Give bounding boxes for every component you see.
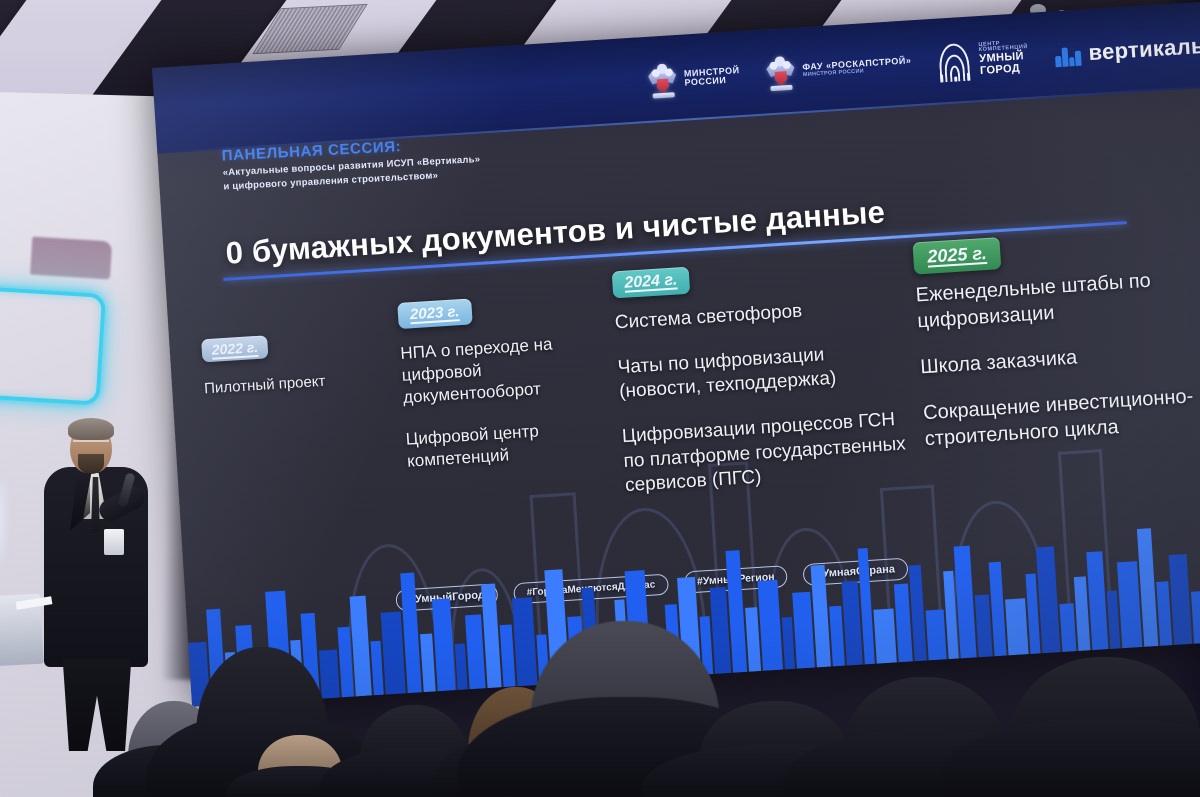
minstroy-rossii-logo: МИНСТРОЙ РОССИИ [646,57,741,99]
double-headed-eagle-emblem-icon [765,54,797,92]
conference-scene: МИНСТРОЙ РОССИИ ФАУ «РОСКАПСТРОЙ» МИНСТР… [0,0,1200,797]
timeline-item: Цифровой центр компетенций [405,416,609,473]
timeline-item: Школа заказчика [919,337,1200,381]
minstroy-line2: РОССИИ [684,75,740,88]
year-badge-2025: 2025 г. [912,237,1001,274]
timeline-column-2025: 2025 г. Еженедельные штабы по цифровизац… [896,225,1200,473]
audience-heads-foreground [0,567,1200,797]
year-badge-2023: 2023 г. [397,298,472,329]
fingerprint-arch-icon [936,41,972,83]
neon-rectangle-icon [0,284,106,406]
fau-roskapstroy-logo: ФАУ «РОСКАПСТРОЙ» МИНСТРОЯ РОССИИ [765,46,913,91]
year-badge-2022: 2022 г. [201,335,269,362]
vertical-brand-name: вертикаль [1088,33,1200,66]
smart-city-big-2: ГОРОД [980,63,1030,78]
timeline-item: НПА о переходе на цифровой документообор… [400,330,606,409]
audience-head [1010,657,1200,797]
glasses-icon [73,440,109,447]
timeline-item: Сокращение инвестиционно-строительного ц… [922,382,1200,452]
timeline-column-2024: 2024 г. Система светофоров Чаты по цифро… [597,244,913,520]
year-badge-2024: 2024 г. [612,267,690,299]
timeline-item: Чаты по цифровизации (новости, техподдер… [617,338,906,405]
double-headed-eagle-emblem-icon [646,61,678,99]
timeline-column-2022: 2022 г. Пилотный проект [188,276,396,420]
bar-chart-mark-icon [1054,42,1081,68]
smart-city-logo: ЦЕНТР КОМПЕТЕНЦИЙ УМНЫЙ ГОРОД [936,37,1030,83]
timeline-column-2023: 2023 г. НПА о переходе на цифровой докум… [388,262,611,493]
lanyard-badge [104,529,124,555]
vertical-brand-logo: вертикаль [1054,33,1200,68]
timeline-item: Цифровизации процессов ГСН по платформе … [621,407,911,499]
